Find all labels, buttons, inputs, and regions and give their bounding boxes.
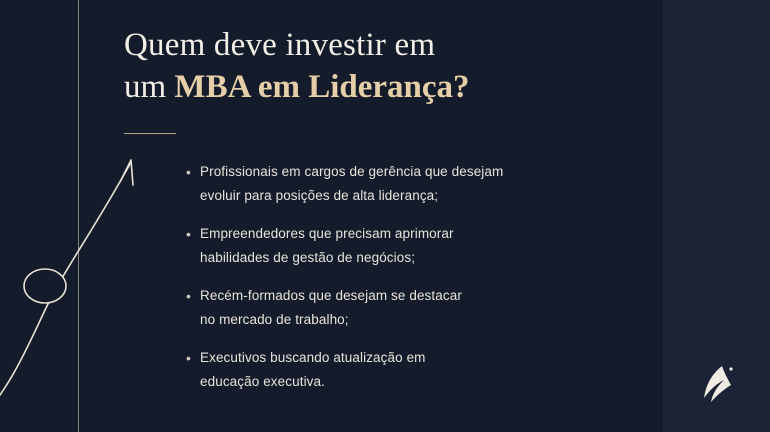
bullet-marker-icon: •	[186, 346, 200, 370]
list-item-line-1: Empreendedores que precisam aprimorar	[200, 222, 606, 246]
title-line-2: um MBA em Liderança?	[124, 65, 594, 109]
list-item: • Executivos buscando atualização em edu…	[186, 346, 606, 394]
bullet-marker-icon: •	[186, 222, 200, 246]
title-line-1: Quem deve investir em	[124, 26, 594, 65]
list-item-text: Profissionais em cargos de gerência que …	[200, 160, 606, 208]
list-item-text: Executivos buscando atualização em educa…	[200, 346, 606, 394]
list-item-line-2: habilidades de gestão de negócios;	[200, 246, 606, 270]
bullet-list: • Profissionais em cargos de gerência qu…	[186, 160, 606, 408]
page-title: Quem deve investir em um MBA em Lideranç…	[124, 26, 594, 109]
list-item-line-2: educação executiva.	[200, 370, 606, 394]
list-item-line-1: Recém-formados que desejam se destacar	[200, 284, 606, 308]
vertical-rule	[78, 0, 79, 432]
list-item-line-1: Profissionais em cargos de gerência que …	[200, 160, 606, 184]
list-item-line-1: Executivos buscando atualização em	[200, 346, 606, 370]
title-divider	[124, 133, 176, 134]
slide: Quem deve investir em um MBA em Lideranç…	[0, 0, 770, 432]
list-item-line-2: no mercado de trabalho;	[200, 308, 606, 332]
title-accent-text: MBA em Liderança?	[174, 69, 469, 105]
list-item: • Recém-formados que desejam se destacar…	[186, 284, 606, 332]
list-item-text: Empreendedores que precisam aprimorar ha…	[200, 222, 606, 270]
title-prefix: um	[124, 69, 174, 105]
list-item: • Profissionais em cargos de gerência qu…	[186, 160, 606, 208]
arrow-swoosh-icon	[0, 140, 160, 432]
list-item: • Empreendedores que precisam aprimorar …	[186, 222, 606, 270]
bullet-marker-icon: •	[186, 284, 200, 308]
bullet-marker-icon: •	[186, 160, 200, 184]
list-item-line-2: evoluir para posições de alta liderança;	[200, 184, 606, 208]
list-item-text: Recém-formados que desejam se destacar n…	[200, 284, 606, 332]
brand-logo-icon	[700, 364, 734, 404]
